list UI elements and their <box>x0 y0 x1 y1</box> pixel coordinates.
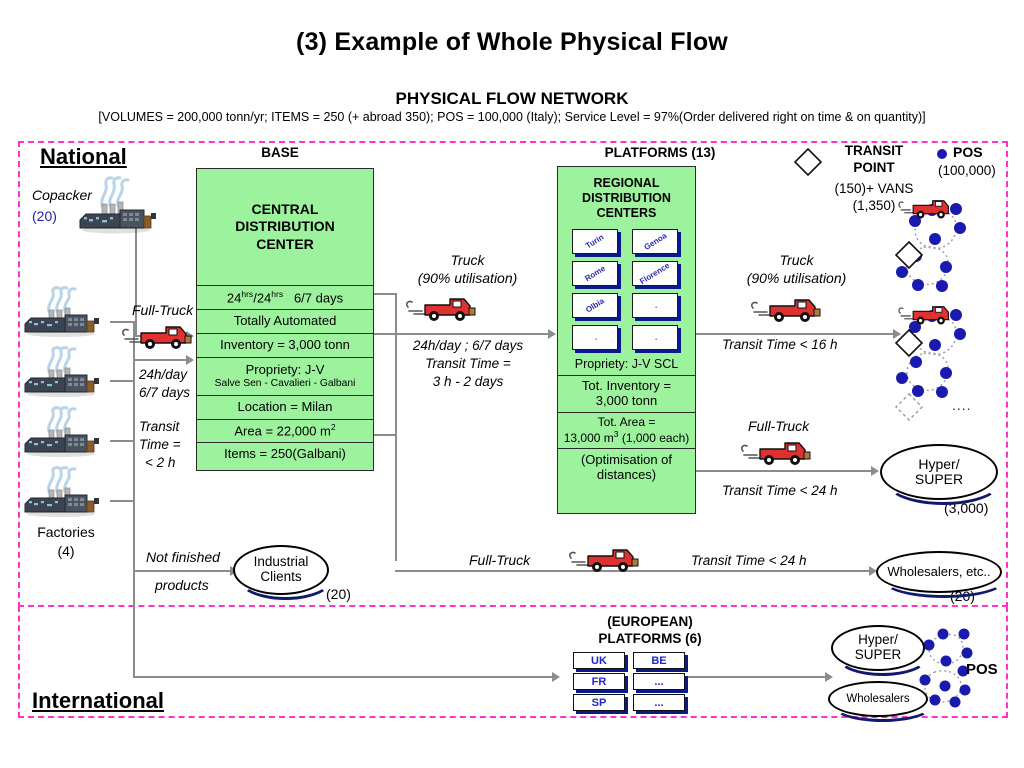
rdc-card-other-2[interactable]: . <box>572 325 618 350</box>
rdc-row-optimisation: (Optimisation of distances) <box>558 448 695 486</box>
rdc-area-line1: Tot. Area = <box>598 416 656 429</box>
truck-icon-cdc-to-wholesalers <box>568 545 644 575</box>
rdc-card-florence[interactable]: Florence <box>632 261 678 286</box>
industrial-clients-ellipse[interactable]: Industrial Clients <box>233 545 329 595</box>
connector-factory-to-cdc <box>133 359 187 361</box>
connector-rdc-to-hyper <box>696 470 874 472</box>
cdc-rdc-mode-line2: (90% utilisation) <box>390 270 545 288</box>
rdc-card-olbia[interactable]: Olbia <box>572 293 618 318</box>
connector-cdc-branch-vertical <box>395 293 397 561</box>
rdc-optimisation-line1: (Optimisation of <box>581 453 672 468</box>
cdc-row-area: Area = 22,000 m2 <box>197 419 373 442</box>
factory-cdc-transit: Transit Time = < 2 h <box>139 418 181 473</box>
not-finished-line2: products <box>155 577 209 595</box>
rdc-hyper-transit: Transit Time < 24 h <box>722 483 838 500</box>
rdc-optimisation-line2: distances) <box>597 468 656 483</box>
column-head-european-platforms: (EUROPEAN) PLATFORMS (6) <box>560 614 740 648</box>
connector-cdc-branch-mid <box>374 434 396 436</box>
connector-to-industrial-clients <box>133 570 231 572</box>
factory-cdc-mode: Full-Truck <box>132 302 193 320</box>
industrial-clients-line1: Industrial <box>254 555 309 570</box>
rdc-inventory-line2: 3,000 tonn <box>596 394 657 409</box>
cdc-row-propriety: Propriety: J-V Salve Sen - Cavalieri - G… <box>197 357 373 395</box>
arrow-to-eu-platforms <box>552 672 560 682</box>
rdc-city-cards: Turin Genoa Rome Florence Olbia . . . <box>558 225 695 353</box>
industrial-clients-line2: Clients <box>254 570 309 585</box>
rdc-inventory-line1: Tot. Inventory = <box>582 379 671 394</box>
hyper-super-line1: Hyper/ <box>915 457 963 472</box>
factory-cdc-hours: 24h/day 6/7 days <box>139 366 190 402</box>
wholesalers-label: Wholesalers, etc.. <box>887 565 990 579</box>
cdc-rdc-detail-line3: 3 h - 2 days <box>383 373 553 391</box>
transit-point-diamond-icon <box>793 147 823 177</box>
hyper-super-ellipse[interactable]: Hyper/ SUPER <box>880 444 998 500</box>
cdc-row-automated: Totally Automated <box>197 309 373 333</box>
cdc-row-items: Items = 250(Galbani) <box>197 442 373 466</box>
cdc-title-line2: DISTRIBUTION <box>235 218 335 236</box>
regional-distribution-centers-box: REGIONAL DISTRIBUTION CENTERS Turin Geno… <box>557 166 696 514</box>
eu-platform-chips: UK BE FR ... SP ... <box>573 652 683 710</box>
pos-network-ellipsis: .... <box>952 397 972 415</box>
central-distribution-center-box: CENTRAL DISTRIBUTION CENTER 24hrs/24hrs … <box>196 168 374 471</box>
cdc-wholesalers-mode: Full-Truck <box>469 552 530 570</box>
copacker-factory-icon <box>72 176 162 236</box>
copacker-count: (20) <box>32 208 57 226</box>
factory-cdc-transit-line3: < 2 h <box>139 454 181 472</box>
truck-icon-rdc-to-pos <box>750 295 826 325</box>
factory-cdc-transit-line1: Transit <box>139 418 181 436</box>
factory-icon-3 <box>14 408 114 458</box>
connector-cdc-to-rdc <box>374 333 550 335</box>
factory-cdc-transit-line2: Time = <box>139 436 181 454</box>
rdc-pos-mode-line1: Truck <box>714 252 879 270</box>
eu-chip-be[interactable]: BE <box>633 652 685 669</box>
not-finished-line1: Not finished <box>146 549 220 567</box>
network-title: PHYSICAL FLOW NETWORK <box>0 89 1024 109</box>
connector-rdc-to-pos <box>696 333 896 335</box>
zone-divider <box>18 605 1008 607</box>
column-head-platforms: PLATFORMS (13) <box>540 145 780 160</box>
arrow-rdc-to-hyper <box>871 466 879 476</box>
column-head-base: BASE <box>205 145 355 160</box>
transit-point-diamond-2 <box>894 328 924 358</box>
arrow-eu-to-customers <box>825 672 833 682</box>
rdc-pos-mode-line2: (90% utilisation) <box>714 270 879 288</box>
rdc-title-line1: REGIONAL <box>582 176 671 191</box>
eu-wholesalers-ellipse[interactable]: Wholesalers <box>828 681 928 717</box>
cdc-rdc-detail: 24h/day ; 6/7 days Transit Time = 3 h - … <box>383 337 553 392</box>
rdc-card-turin[interactable]: Turin <box>572 229 618 254</box>
factory-cdc-hours-line2: 6/7 days <box>139 384 190 402</box>
factory-cdc-hours-line1: 24h/day <box>139 366 190 384</box>
rdc-title-line2: DISTRIBUTION <box>582 191 671 206</box>
transit-point-label: TRANSIT POINT <box>826 143 922 177</box>
connector-cdc-branch-top <box>374 293 396 295</box>
connector-to-eu-platforms <box>133 676 556 678</box>
cdc-rdc-detail-line1: 24h/day ; 6/7 days <box>383 337 553 355</box>
eu-chip-sp[interactable]: SP <box>573 694 625 711</box>
cdc-row-location: Location = Milan <box>197 395 373 419</box>
truck-icon-cdc-to-rdc <box>405 294 481 324</box>
cdc-propriety-main: Propriety: J-V <box>246 363 325 378</box>
rdc-row-inventory: Tot. Inventory = 3,000 tonn <box>558 375 695 412</box>
pos-legend-dot-icon <box>936 148 948 160</box>
industrial-clients-count: (20) <box>326 586 351 604</box>
cdc-propriety-sub: Salve Sen - Cavalieri - Galbani <box>215 378 356 390</box>
factory-icon-4 <box>14 468 114 518</box>
van-icon-upper <box>897 196 959 222</box>
transit-point-line1: TRANSIT <box>826 143 922 160</box>
transit-point-diamond-3-dashed <box>894 392 924 422</box>
factories-count: (4) <box>18 543 114 561</box>
cdc-title-line1: CENTRAL <box>235 201 335 219</box>
hyper-super-line2: SUPER <box>915 472 963 487</box>
eu-hyper-line1: Hyper/ <box>855 633 902 648</box>
rdc-area-line2: 13,000 m3 (1,000 each) <box>564 430 690 445</box>
transit-point-diamond-1 <box>894 240 924 270</box>
eu-chip-other-2[interactable]: ... <box>633 694 685 711</box>
cdc-row-inventory: Inventory = 3,000 tonn <box>197 333 373 357</box>
eu-pos-label: POS <box>966 661 998 680</box>
pos-legend-label: POS <box>953 144 983 162</box>
zone-label-international: International <box>32 688 164 714</box>
eu-wholesalers-label: Wholesalers <box>846 693 909 706</box>
connector-eu-to-customers <box>680 676 828 678</box>
arrow-factory-to-cdc <box>186 355 194 365</box>
rdc-title: REGIONAL DISTRIBUTION CENTERS <box>558 167 695 221</box>
rdc-card-rome[interactable]: Rome <box>572 261 618 286</box>
eu-chip-other-1[interactable]: ... <box>633 673 685 690</box>
eu-hyper-line2: SUPER <box>855 648 902 663</box>
rdc-card-other-3[interactable]: . <box>632 325 678 350</box>
page-title: (3) Example of Whole Physical Flow <box>0 28 1024 57</box>
wholesalers-ellipse[interactable]: Wholesalers, etc.. <box>876 551 1002 593</box>
factories-label: Factories <box>18 524 114 542</box>
rdc-card-other-1[interactable]: . <box>632 293 678 318</box>
eu-head-line1: (EUROPEAN) <box>560 614 740 631</box>
eu-chip-fr[interactable]: FR <box>573 673 625 690</box>
truck-icon-rdc-to-hyper <box>740 438 816 468</box>
factory-icon-1 <box>14 288 114 338</box>
van-icon-lower <box>897 302 959 328</box>
eu-head-line2: PLATFORMS (6) <box>560 631 740 648</box>
cdc-rdc-mode-line1: Truck <box>390 252 545 270</box>
rdc-title-line3: CENTERS <box>582 206 671 221</box>
cdc-rdc-mode: Truck (90% utilisation) <box>390 252 545 287</box>
cdc-row-hours: 24hrs/24hrs 6/7 days <box>197 285 373 309</box>
cdc-title: CENTRAL DISTRIBUTION CENTER <box>197 169 373 285</box>
rdc-hyper-mode: Full-Truck <box>748 418 809 436</box>
cdc-rdc-detail-line2: Transit Time = <box>383 355 553 373</box>
truck-icon-factory-to-cdc <box>121 322 197 352</box>
connector-factory-trunk <box>133 321 135 678</box>
zone-label-national: National <box>40 144 127 170</box>
rdc-propriety: Propriety: J-V SCL <box>558 353 695 375</box>
transit-point-line2: POINT <box>826 160 922 177</box>
cdc-wholesalers-transit: Transit Time < 24 h <box>691 553 807 570</box>
rdc-pos-mode: Truck (90% utilisation) <box>714 252 879 287</box>
eu-hyper-super-ellipse[interactable]: Hyper/ SUPER <box>831 625 925 671</box>
factory-icon-2 <box>14 348 114 398</box>
rdc-card-genoa[interactable]: Genoa <box>632 229 678 254</box>
pos-legend-count: (100,000) <box>938 163 996 180</box>
eu-chip-uk[interactable]: UK <box>573 652 625 669</box>
network-subtitle: [VOLUMES = 200,000 tonn/yr; ITEMS = 250 … <box>0 110 1024 124</box>
cdc-title-line3: CENTER <box>235 236 335 254</box>
rdc-row-area: Tot. Area = 13,000 m3 (1,000 each) <box>558 412 695 448</box>
rdc-pos-transit: Transit Time < 16 h <box>722 337 838 354</box>
